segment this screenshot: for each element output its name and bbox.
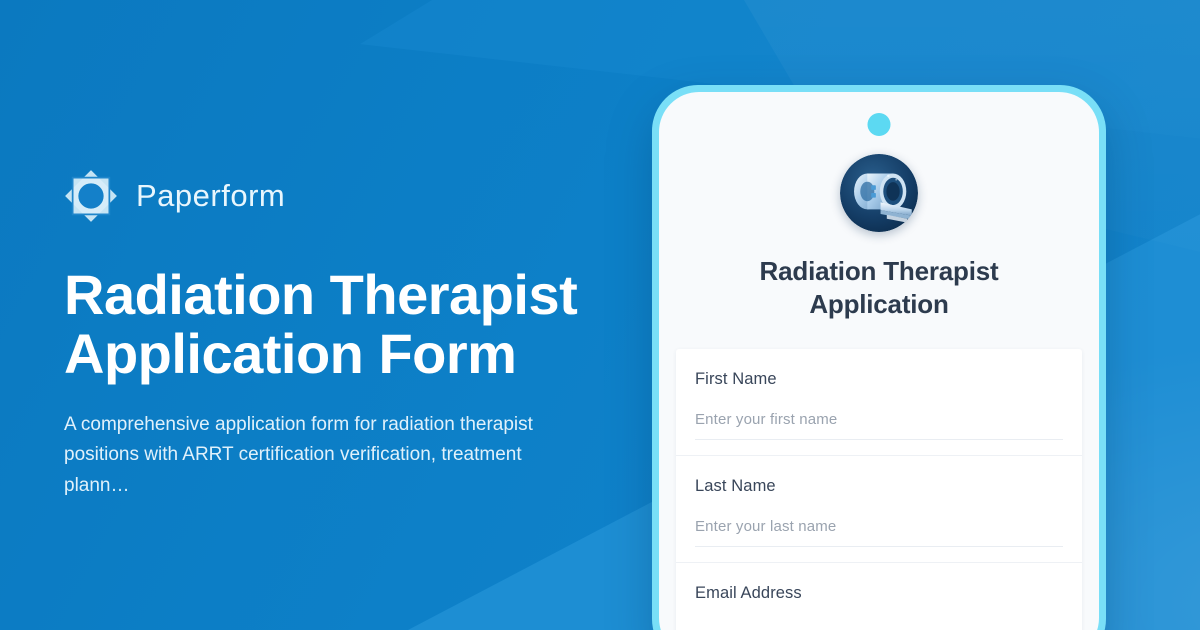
page-description: A comprehensive application form for rad… — [64, 410, 544, 502]
last-name-input[interactable]: Enter your last name — [695, 518, 1063, 547]
page-title: Radiation Therapist Application Form — [64, 266, 584, 384]
social-share-card: Paperform Radiation Therapist Applicatio… — [0, 0, 1200, 630]
brand-lockup: Paperform — [64, 168, 604, 224]
field-label: Email Address — [695, 584, 1063, 603]
first-name-input[interactable]: Enter your first name — [695, 411, 1063, 440]
field-label: Last Name — [695, 477, 1063, 496]
form-field-first-name[interactable]: First Name Enter your first name — [676, 349, 1082, 456]
form-fields-card: First Name Enter your first name Last Na… — [676, 349, 1082, 630]
field-label: First Name — [695, 370, 1063, 389]
camera-dot-icon — [868, 113, 891, 136]
mri-scanner-icon — [840, 154, 918, 232]
brand-name: Paperform — [136, 178, 285, 214]
phone-screen: Radiation Therapist Application First Na… — [659, 92, 1099, 630]
form-field-last-name[interactable]: Last Name Enter your last name — [676, 456, 1082, 563]
paperform-star-logo-icon — [64, 169, 118, 223]
hero-content: Paperform Radiation Therapist Applicatio… — [64, 168, 604, 502]
phone-mockup: Radiation Therapist Application First Na… — [652, 85, 1106, 630]
form-field-email-address[interactable]: Email Address — [676, 563, 1082, 630]
form-title: Radiation Therapist Application — [659, 255, 1099, 321]
